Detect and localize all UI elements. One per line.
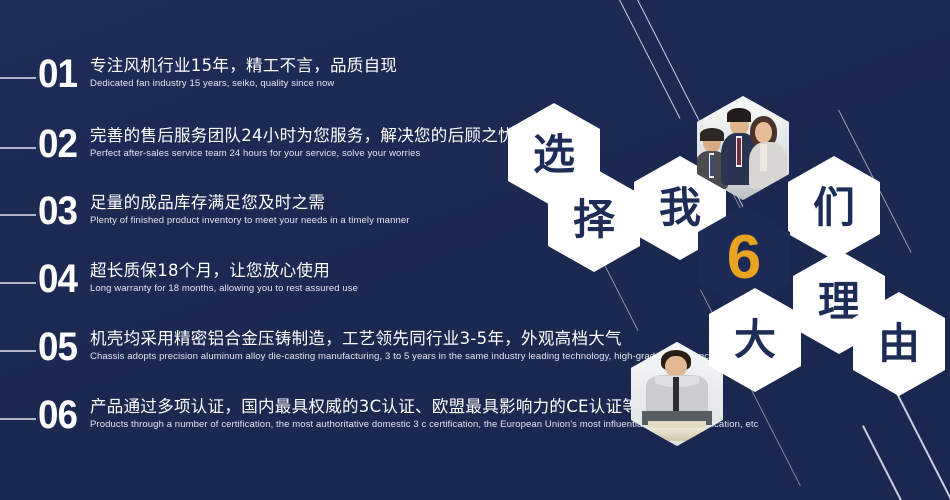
hex-glyph: 选	[533, 134, 575, 176]
hex-glyph: 理	[818, 281, 860, 323]
hex-men: 们	[788, 156, 880, 260]
hex-glyph: 我	[659, 187, 701, 229]
headline-hex-cluster: 选 择 我	[0, 0, 950, 500]
promo-banner: 01 专注风机行业15年，精工不言，品质自现 Dedicated fan ind…	[0, 0, 950, 500]
hex-glyph: 择	[573, 199, 615, 241]
hex-glyph: 大	[734, 319, 776, 361]
hex-glyph: 6	[727, 227, 761, 289]
hex-glyph: 们	[813, 187, 855, 229]
hex-glyph: 由	[878, 323, 920, 365]
